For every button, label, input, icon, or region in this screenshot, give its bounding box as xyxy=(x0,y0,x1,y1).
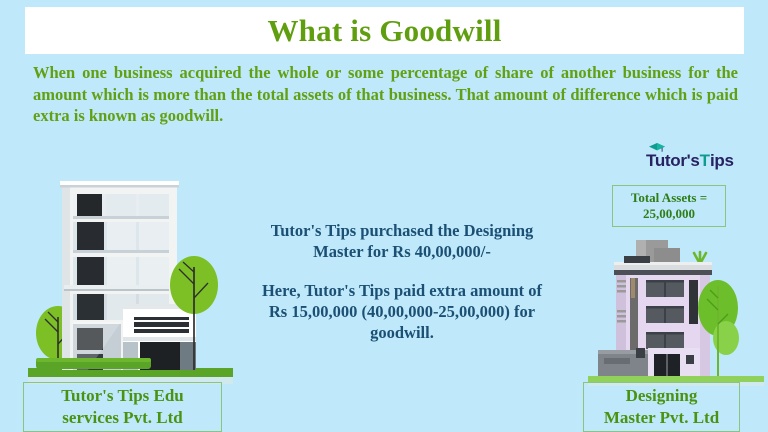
center-explanation-text: Tutor's Tips purchased the Designing Mas… xyxy=(222,220,582,343)
caption-right-line-1: Designing xyxy=(626,385,698,407)
goodwill-statement-line-1: Here, Tutor's Tips paid extra amount of xyxy=(222,280,582,301)
total-assets-box: Total Assets = 25,00,000 xyxy=(612,185,726,227)
caption-right-line-2: Master Pvt. Ltd xyxy=(604,407,719,429)
logo-text-tutors: Tutor's xyxy=(646,151,700,171)
acquired-company-building-illustration xyxy=(588,238,764,391)
intro-paragraph: When one business acquired the whole or … xyxy=(33,62,738,127)
caption-acquired-company: Designing Master Pvt. Ltd xyxy=(583,382,740,432)
caption-left-line-1: Tutor's Tips Edu xyxy=(61,385,184,407)
caption-left-line-2: services Pvt. Ltd xyxy=(62,407,182,429)
paragraph-gap xyxy=(222,262,582,280)
title-bar: What is Goodwill xyxy=(25,7,744,54)
graduation-cap-icon xyxy=(649,143,665,154)
caption-acquirer-company: Tutor's Tips Edu services Pvt. Ltd xyxy=(23,382,222,432)
page-title: What is Goodwill xyxy=(267,15,501,46)
goodwill-statement-line-2: Rs 15,00,000 (40,00,000-25,00,000) for xyxy=(222,301,582,322)
logo-text-ips: ips xyxy=(710,151,734,171)
total-assets-value: 25,00,000 xyxy=(643,206,695,222)
total-assets-label: Total Assets = xyxy=(631,190,707,206)
acquirer-office-building-illustration xyxy=(28,172,233,389)
logo-text-t: T xyxy=(700,151,710,171)
slide-canvas: What is Goodwill When one business acqui… xyxy=(0,0,768,432)
brand-logo: Tutor's Tips xyxy=(646,148,746,174)
purchase-statement-line-2: Master for Rs 40,00,000/- xyxy=(222,241,582,262)
goodwill-statement-line-3: goodwill. xyxy=(222,322,582,343)
purchase-statement-line-1: Tutor's Tips purchased the Designing xyxy=(222,220,582,241)
